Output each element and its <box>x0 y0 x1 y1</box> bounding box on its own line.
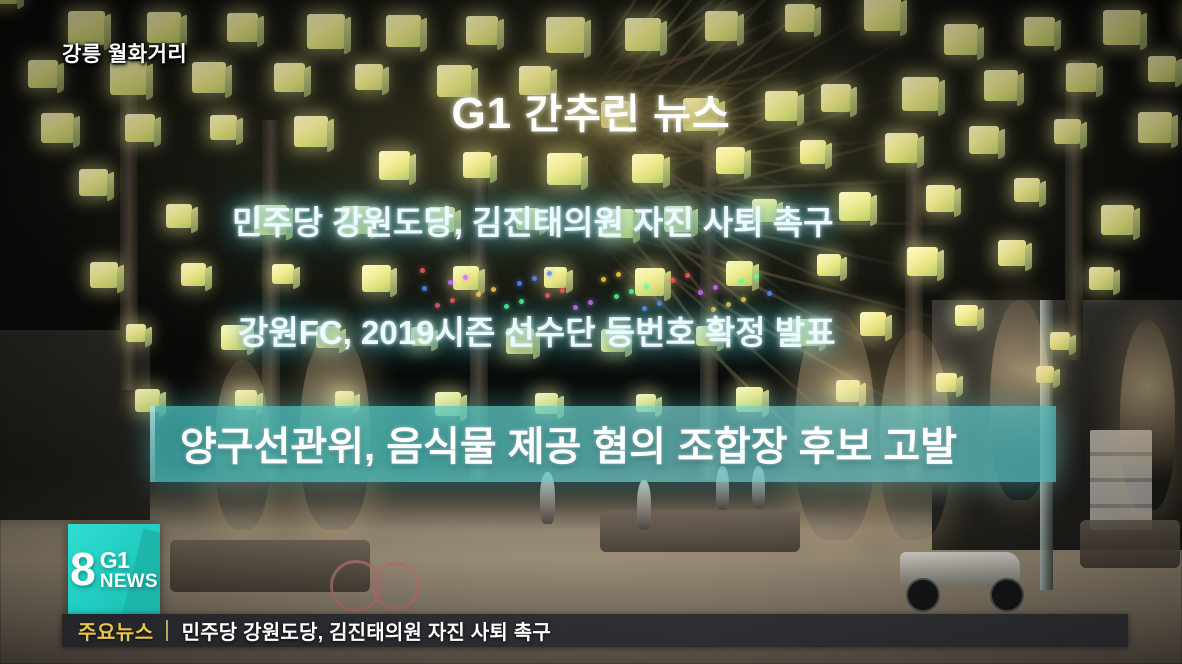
lantern-59 <box>181 263 206 286</box>
decor-light-24 <box>588 300 593 305</box>
decor-light-5 <box>545 293 550 298</box>
lantern-54 <box>839 192 871 221</box>
lantern-67 <box>907 247 938 276</box>
lantern-7 <box>546 17 585 53</box>
decor-light-22 <box>754 274 759 279</box>
brand-subtitle: NEWS <box>100 572 158 591</box>
decor-light-4 <box>448 280 453 285</box>
planter-right <box>1080 520 1180 568</box>
decor-light-20 <box>560 288 565 293</box>
lantern-46 <box>166 204 192 228</box>
decor-light-13 <box>601 277 606 282</box>
lantern-0 <box>0 0 18 4</box>
decor-light-32 <box>644 284 649 289</box>
decor-light-11 <box>767 291 772 296</box>
lantern-78 <box>860 312 886 336</box>
lantern-80 <box>1050 332 1070 350</box>
lantern-37 <box>547 153 582 185</box>
ticker-headline-text: 민주당 강원도당, 김진태의원 자진 사퇴 촉구 <box>182 616 551 645</box>
decor-light-17 <box>629 289 634 294</box>
decor-light-28 <box>616 272 621 277</box>
channel-logo-bug: 8 G1 NEWS <box>68 524 160 614</box>
headline-item-1[interactable]: 민주당 강원도당, 김진태의원 자진 사퇴 촉구 <box>232 196 834 244</box>
bicycle-wheel-b <box>372 562 420 610</box>
decor-light-10 <box>670 278 675 283</box>
decor-light-7 <box>739 279 744 284</box>
lantern-35 <box>379 151 410 180</box>
decor-light-30 <box>450 298 455 303</box>
decor-light-33 <box>741 297 746 302</box>
decor-light-19 <box>463 275 468 280</box>
lantern-36 <box>463 152 491 178</box>
program-title-text: 간추린 뉴스 <box>512 91 730 137</box>
lantern-13 <box>1024 17 1055 46</box>
decor-light-26 <box>422 286 427 291</box>
lantern-5 <box>386 15 421 47</box>
planter-center <box>600 510 800 552</box>
lantern-63 <box>544 267 567 288</box>
lantern-60 <box>272 264 294 284</box>
decor-light-16 <box>532 276 537 281</box>
lantern-57 <box>1101 205 1134 235</box>
lantern-69 <box>1089 267 1114 290</box>
channel-number: 8 <box>70 548 96 590</box>
decor-light-25 <box>685 273 690 278</box>
decor-light-0 <box>420 268 425 273</box>
decor-light-23 <box>491 287 496 292</box>
decor-light-14 <box>698 290 703 295</box>
decor-light-1 <box>517 281 522 286</box>
lantern-66 <box>817 254 841 276</box>
lantern-6 <box>466 16 498 45</box>
lantern-40 <box>800 140 826 164</box>
lantern-10 <box>785 4 815 32</box>
lantern-64 <box>635 268 665 296</box>
lantern-79 <box>955 305 978 326</box>
fairy-light-tree-4 <box>1120 320 1175 510</box>
lantern-61 <box>362 265 391 292</box>
scooter-wheel-rear <box>906 578 940 612</box>
lantern-30 <box>1148 56 1176 82</box>
lantern-45 <box>79 169 108 196</box>
lantern-4 <box>307 14 345 49</box>
lantern-70 <box>126 324 146 342</box>
headline-item-2[interactable]: 강원FC, 2019시즌 선수단 등번호 확정 발표 <box>238 306 835 354</box>
lantern-38 <box>632 154 664 183</box>
lantern-3 <box>227 13 258 42</box>
decor-light-8 <box>476 292 481 297</box>
ticker-category-label: 주요뉴스 <box>62 616 166 645</box>
pedestrian-b <box>637 480 651 530</box>
news-ticker-bar: 주요뉴스 민주당 강원도당, 김진태의원 자진 사퇴 촉구 <box>62 614 1128 647</box>
decor-light-29 <box>713 285 718 290</box>
lantern-56 <box>1014 178 1040 202</box>
location-label: 강릉 월화거리 <box>62 38 187 68</box>
ticker-separator <box>166 620 168 641</box>
headline-item-3-active[interactable]: 양구선관위, 음식물 제공 혐의 조합장 후보 고발 <box>150 406 1056 482</box>
lantern-14 <box>1103 10 1141 45</box>
decor-light-2 <box>614 294 619 299</box>
lantern-55 <box>926 185 955 212</box>
program-title-mark: G1 <box>451 89 512 138</box>
broadcast-frame: 강릉 월화거리 G1 간추린 뉴스 민주당 강원도당, 김진태의원 자진 사퇴 … <box>0 0 1182 664</box>
lantern-11 <box>864 0 901 31</box>
lantern-68 <box>998 240 1026 266</box>
program-title: G1 간추린 뉴스 <box>0 80 1182 140</box>
decor-light-31 <box>547 271 552 276</box>
lantern-12 <box>944 24 978 55</box>
brand-name: G1 <box>100 549 158 572</box>
lantern-8 <box>625 18 661 51</box>
lantern-39 <box>716 147 745 174</box>
lantern-58 <box>90 262 118 288</box>
scooter-wheel-front <box>990 578 1024 612</box>
lantern-9 <box>705 11 738 41</box>
decor-light-27 <box>519 299 524 304</box>
